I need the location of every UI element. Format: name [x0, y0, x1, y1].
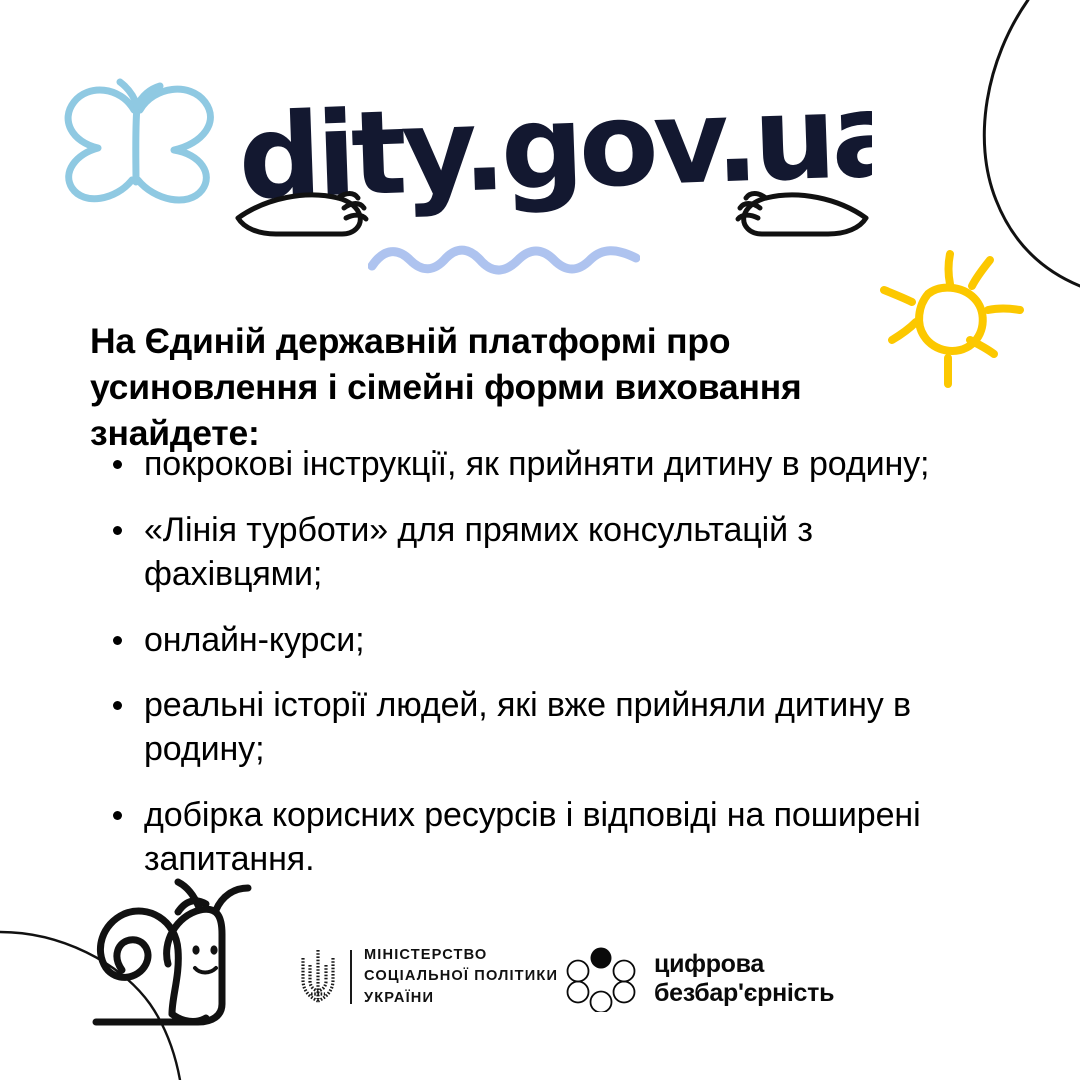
ministry-of-social-policy-logo: МІНІСТЕРСТВО СОЦІАЛЬНОЇ ПОЛІТИКИ УКРАЇНИ [297, 945, 558, 1009]
ministry-line-1: МІНІСТЕРСТВО [364, 945, 558, 966]
list-item-label: «Лінія турботи» для прямих консультацій … [144, 511, 813, 593]
list-item-label: онлайн-курси; [144, 621, 364, 659]
ministry-line-3: УКРАЇНИ [364, 988, 558, 1009]
page-title: На Єдиній державній платформі про усинов… [90, 318, 900, 456]
list-item: онлайн-курси; [108, 619, 998, 663]
list-item: добірка корисних ресурсів і відповіді на… [108, 794, 998, 882]
divider [350, 950, 352, 1004]
arc-line-icon [930, 0, 1080, 300]
butterfly-icon [50, 62, 225, 217]
ministry-line-2: СОЦІАЛЬНОЇ ПОЛІТИКИ [364, 966, 558, 987]
site-logo[interactable]: dity.gov.ua [232, 86, 872, 246]
bullet-dot-icon [113, 811, 122, 820]
list-item: реальні історії людей, які вже прийняли … [108, 684, 998, 772]
bullet-dot-icon [113, 701, 122, 710]
digital-accessibility-logo: цифрова безбар'єрність [566, 946, 834, 1012]
list-item-label: реальні історії людей, які вже прийняли … [144, 686, 911, 768]
bullet-dot-icon [113, 460, 122, 469]
accessibility-name: цифрова безбар'єрність [654, 950, 834, 1009]
footer: МІНІСТЕРСТВО СОЦІАЛЬНОЇ ПОЛІТИКИ УКРАЇНИ… [0, 930, 1080, 1040]
ministry-name: МІНІСТЕРСТВО СОЦІАЛЬНОЇ ПОЛІТИКИ УКРАЇНИ [364, 945, 558, 1009]
ukraine-trident-emblem-icon [297, 947, 339, 1007]
list-item-label: покрокові інструкції, як прийняти дитину… [144, 445, 929, 483]
bullet-dot-icon [113, 526, 122, 535]
list-item-label: добірка корисних ресурсів і відповіді на… [144, 796, 921, 878]
benefits-list: покрокові інструкції, як прийняти дитину… [108, 443, 998, 882]
accessibility-line-1: цифрова [654, 950, 834, 980]
list-item: покрокові інструкції, як прийняти дитину… [108, 443, 998, 487]
bullet-dot-icon [113, 636, 122, 645]
poster-canvas: dity.gov.ua На Єдиній державній платформ… [0, 0, 1080, 1080]
list-item: «Лінія турботи» для прямих консультацій … [108, 509, 998, 597]
accessibility-line-2: безбар'єрність [654, 979, 834, 1009]
digital-accessibility-dots-icon [566, 946, 636, 1012]
